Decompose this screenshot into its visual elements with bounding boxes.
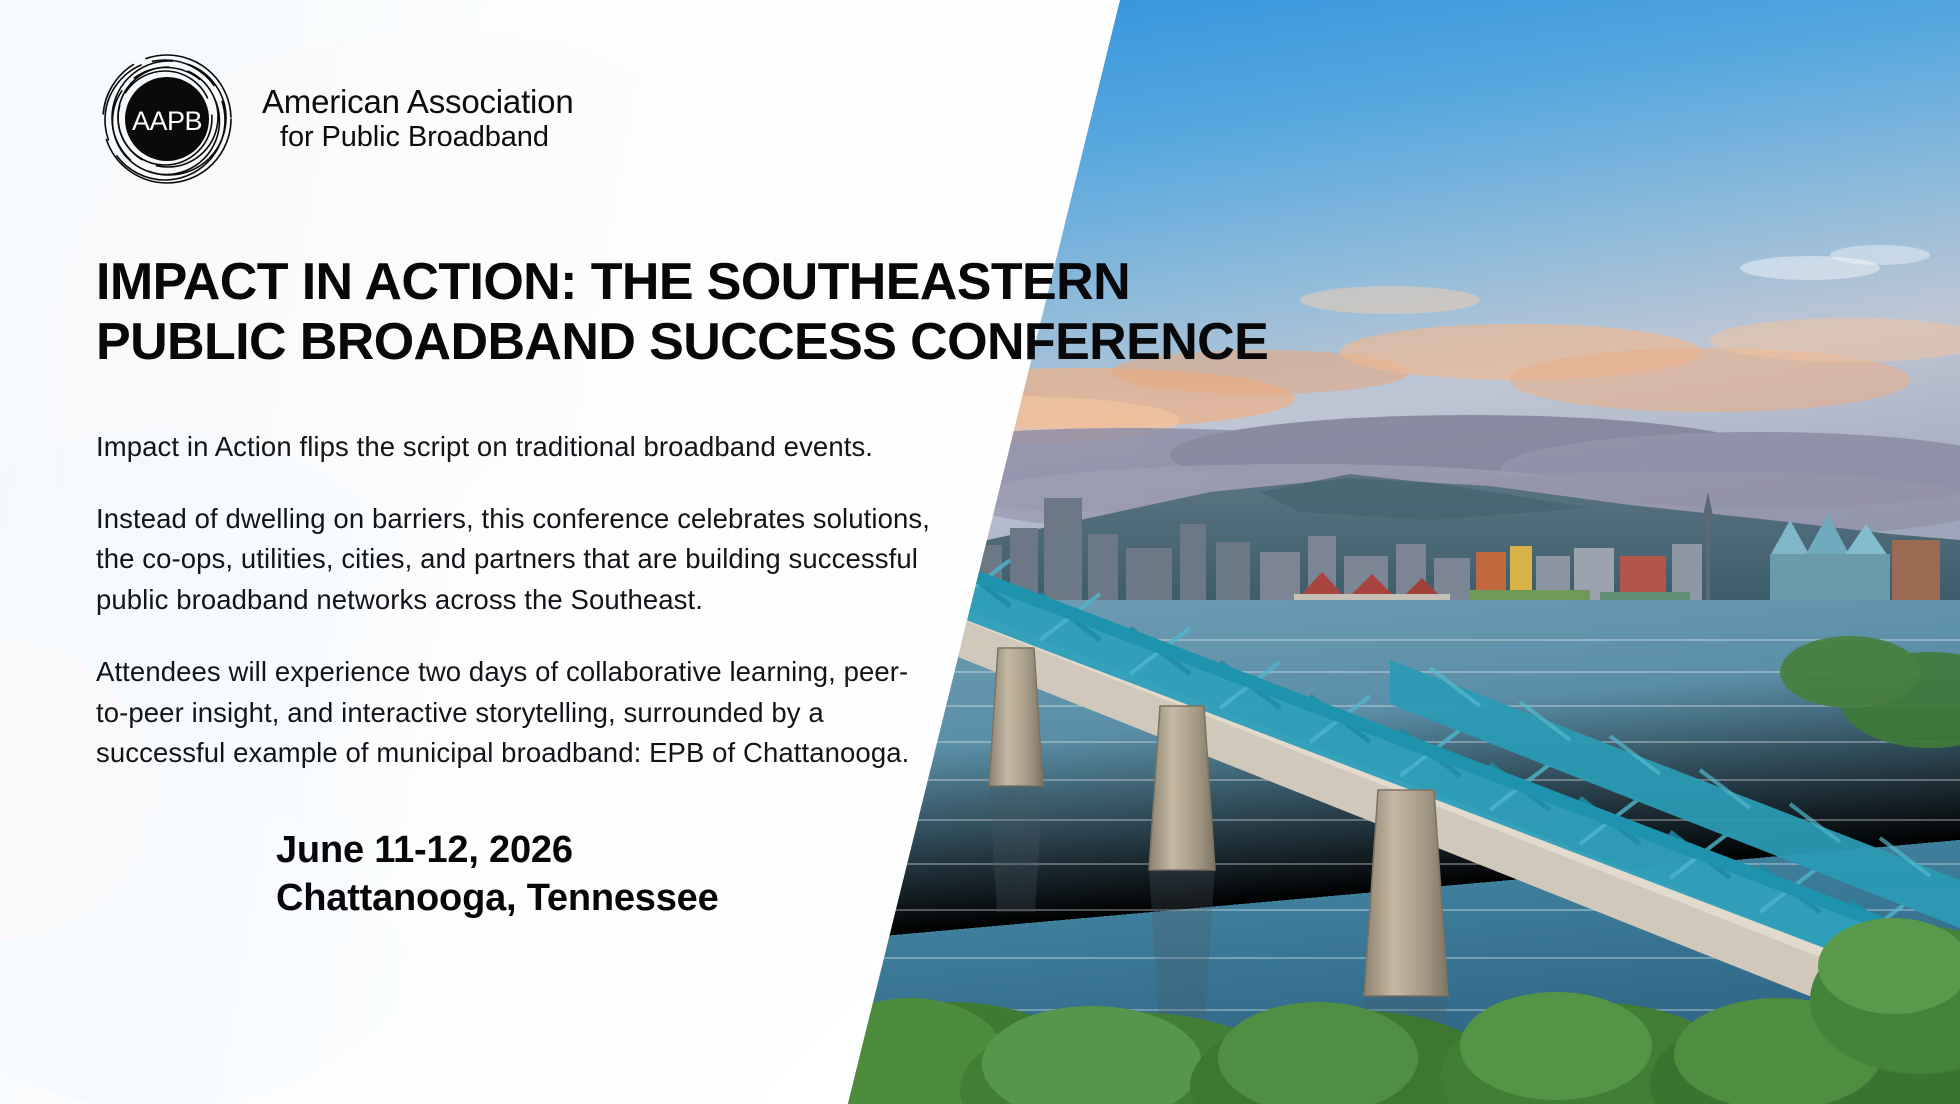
paragraph-3-line-3: successful example of municipal broadban…	[96, 733, 996, 773]
org-name-line-1: American Association	[262, 84, 573, 121]
content-column: AAPB American Association for Public Bro…	[0, 0, 1060, 1104]
event-date: June 11-12, 2026	[276, 826, 1060, 875]
aapb-logo-icon: AAPB	[96, 48, 238, 190]
event-location: Chattanooga, Tennessee	[276, 874, 1060, 923]
paragraph-1: Impact in Action flips the script on tra…	[96, 427, 996, 467]
logo-monogram-text: AAPB	[132, 106, 202, 136]
paragraph-2-line-2: the co-ops, utilities, cities, and partn…	[96, 539, 996, 579]
aapb-circular-sketch-logo: AAPB	[96, 48, 238, 190]
paragraph-1-line-1: Impact in Action flips the script on tra…	[96, 427, 996, 467]
paragraph-3-line-1: Attendees will experience two days of co…	[96, 652, 996, 692]
headline-line-2: PUBLIC BROADBAND SUCCESS CONFERENCE	[96, 312, 1026, 372]
event-details: June 11-12, 2026 Chattanooga, Tennessee	[96, 826, 1060, 923]
headline-line-1: IMPACT IN ACTION: THE SOUTHEASTERN	[96, 252, 1026, 312]
paragraph-2: Instead of dwelling on barriers, this co…	[96, 499, 996, 620]
description-block: Impact in Action flips the script on tra…	[96, 427, 996, 774]
page-title: IMPACT IN ACTION: THE SOUTHEASTERN PUBLI…	[96, 252, 1026, 373]
org-name-line-2: for Public Broadband	[262, 121, 573, 153]
brand-lockup: AAPB American Association for Public Bro…	[96, 48, 1060, 190]
paragraph-3: Attendees will experience two days of co…	[96, 652, 996, 773]
conference-promo-banner: AAPB American Association for Public Bro…	[0, 0, 1960, 1104]
paragraph-2-line-3: public broadband networks across the Sou…	[96, 580, 996, 620]
paragraph-2-line-1: Instead of dwelling on barriers, this co…	[96, 499, 996, 539]
paragraph-3-line-2: to-peer insight, and interactive storyte…	[96, 693, 996, 733]
brand-wordmark: American Association for Public Broadban…	[262, 84, 573, 153]
